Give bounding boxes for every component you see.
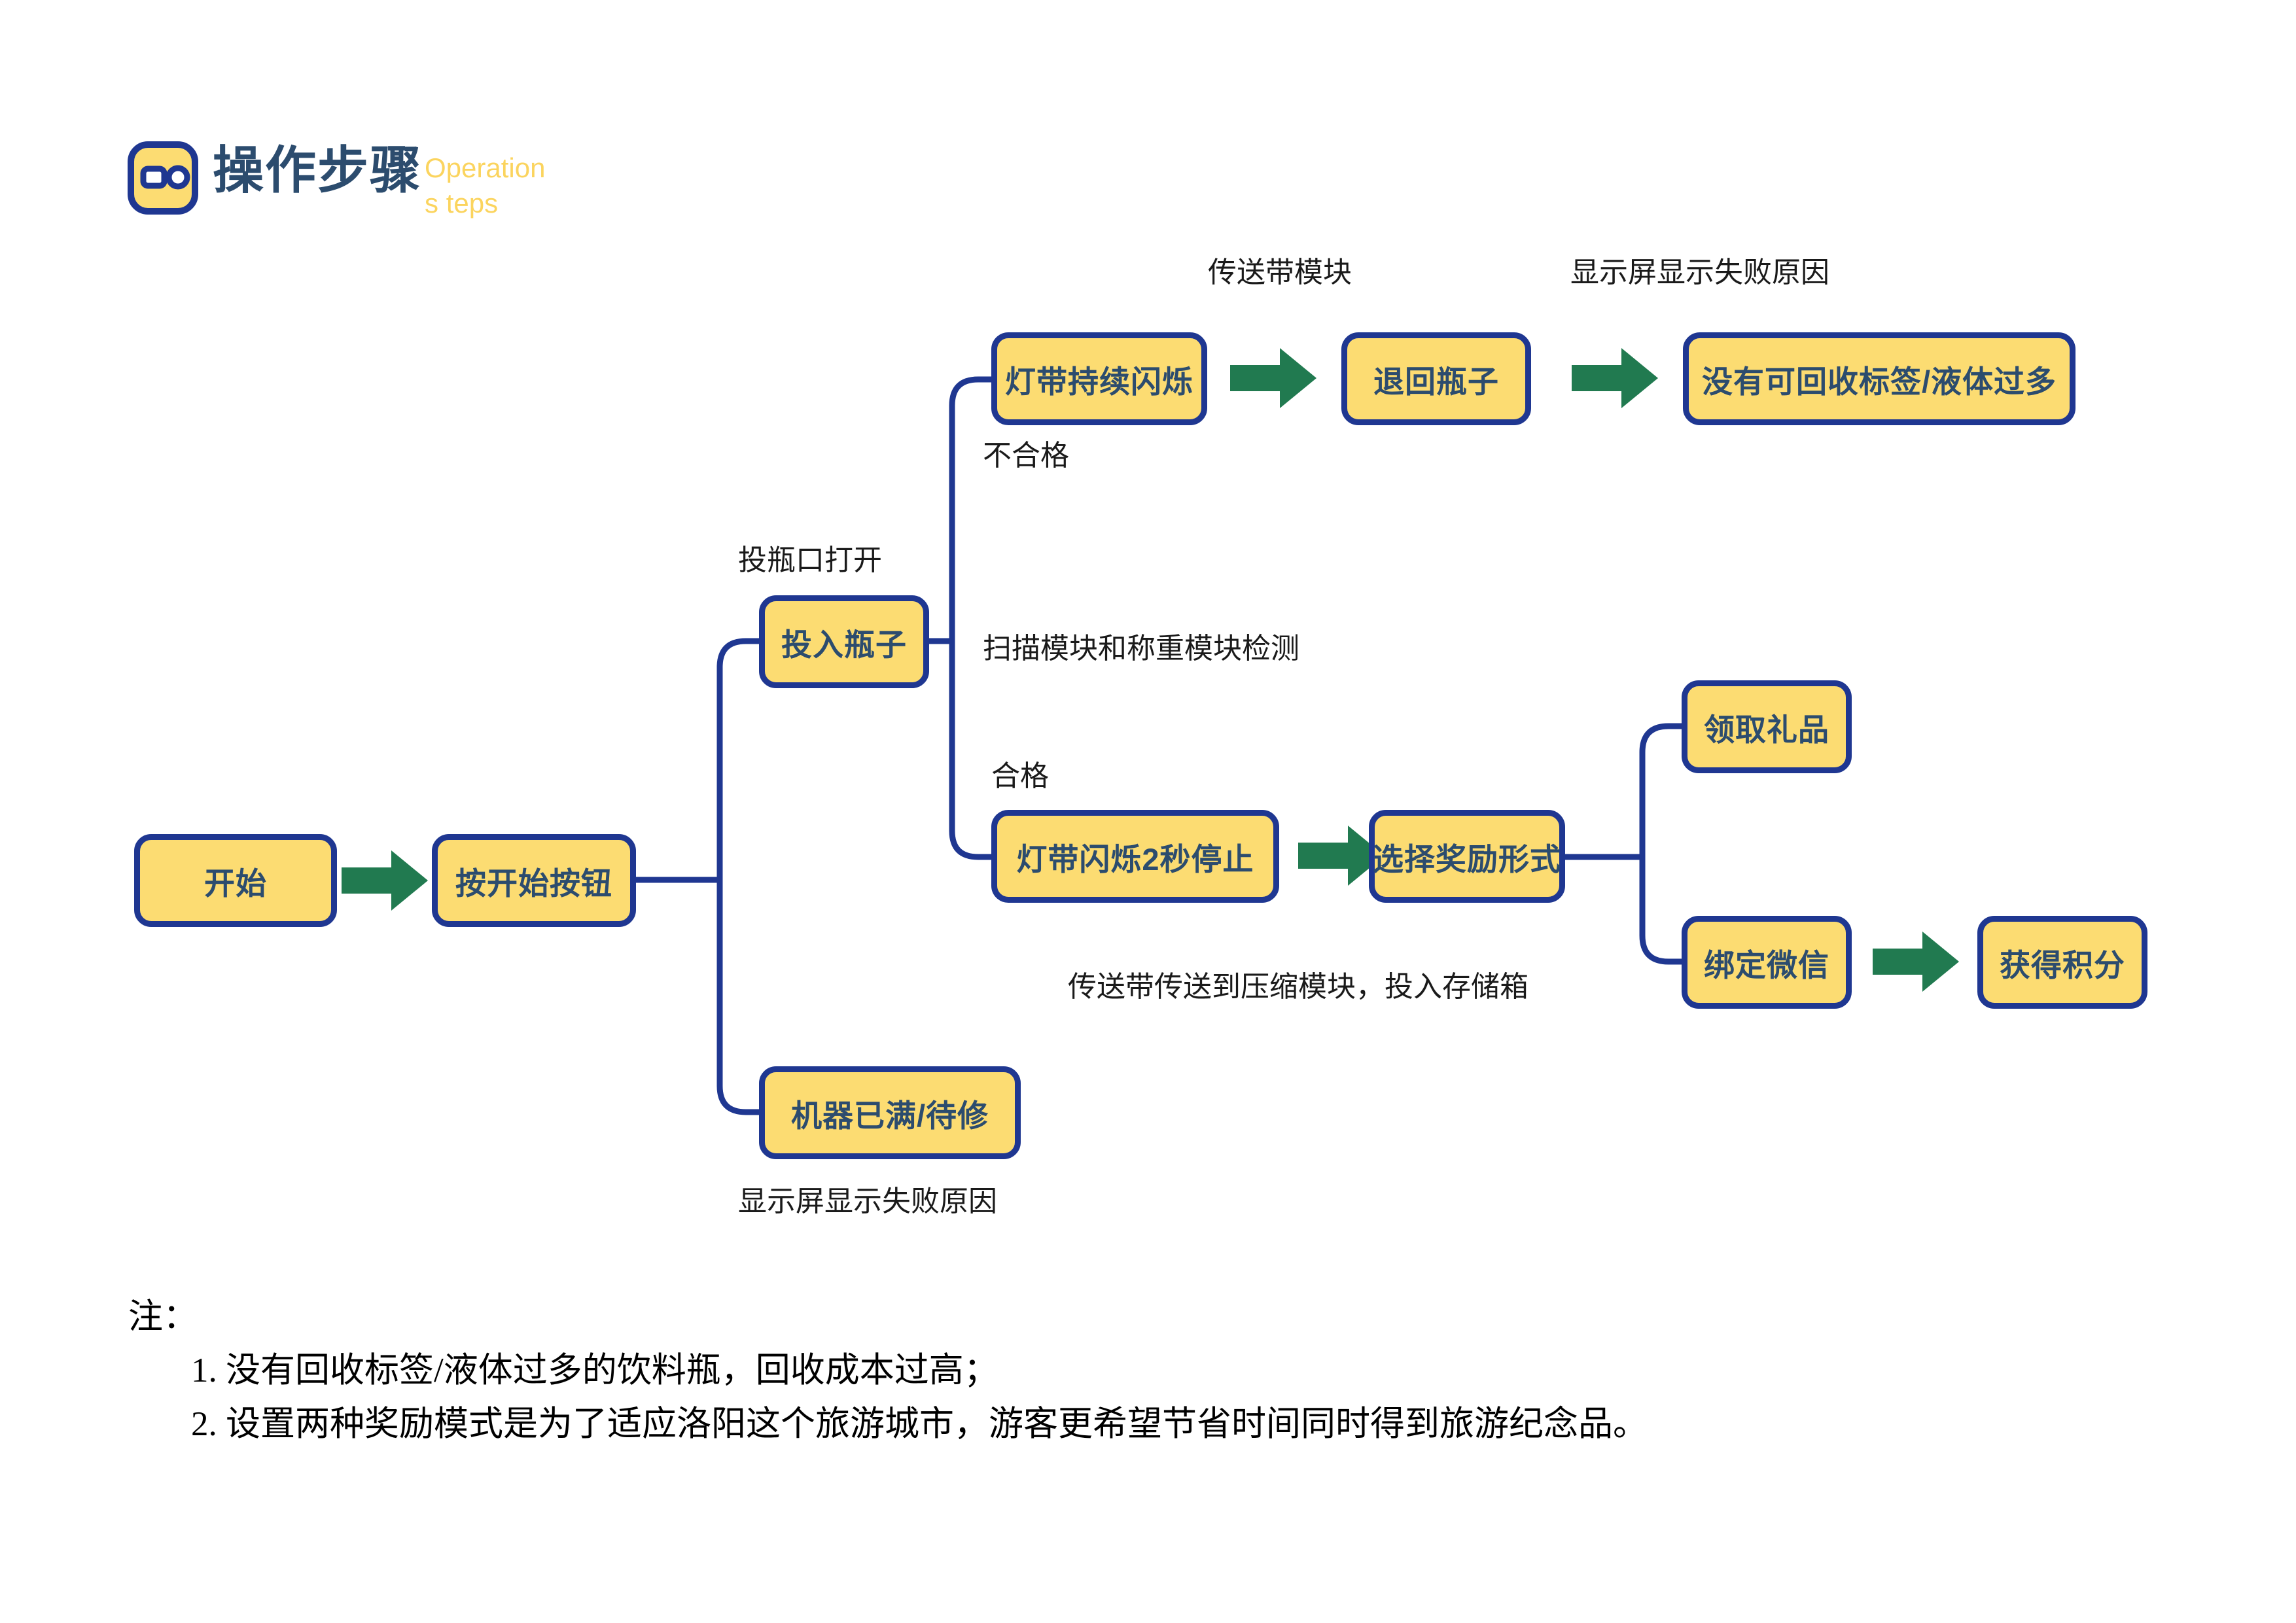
edge-spine2-to-led-blink xyxy=(952,379,991,406)
node-start[interactable]: 开始 xyxy=(134,834,337,927)
notes-block: 注： 1. 没有回收标签/液体过多的饮料瓶，回收成本过高； 2. 设置两种奖励模… xyxy=(128,1290,1648,1451)
node-choose-reward[interactable]: 选择奖励形式 xyxy=(1369,810,1565,903)
edge-spine3-to-bind-wechat xyxy=(1642,935,1682,962)
note-item-1: 1. 没有回收标签/液体过多的饮料瓶，回收成本过高； xyxy=(191,1344,1648,1397)
edge-label-screen-reason-bottom: 显示屏显示失败原因 xyxy=(738,1178,997,1219)
node-machine-full[interactable]: 机器已满/待修 xyxy=(759,1066,1021,1159)
notes-heading: 注： xyxy=(128,1290,1648,1344)
edge-label-conveyor-storage: 传送带传送到压缩模块，投入存储箱 xyxy=(1068,963,1528,1005)
edge-spine3-to-claim-gift xyxy=(1642,726,1682,752)
edge-label-unqualified: 不合格 xyxy=(983,432,1069,474)
edge-spine2-to-led-stop xyxy=(952,831,991,857)
edge-label-screen-reason-top: 显示屏显示失败原因 xyxy=(1570,249,1829,290)
edge-label-slot-open: 投瓶口打开 xyxy=(738,536,882,578)
edge-label-scan-weigh: 扫描模块和称重模块检测 xyxy=(983,625,1299,667)
arrow-return-bottle-to-reject-reason xyxy=(1570,345,1659,411)
node-return-bottle[interactable]: 退回瓶子 xyxy=(1341,332,1531,425)
arrow-bind-wechat-to-get-points xyxy=(1871,929,1960,994)
node-led-blink[interactable]: 灯带持续闪烁 xyxy=(991,332,1207,425)
node-led-stop[interactable]: 灯带闪烁2秒停止 xyxy=(991,810,1279,903)
edge-spine-to-insert-bottle xyxy=(720,641,759,667)
arrow-start-to-press-start xyxy=(340,848,429,913)
node-press-start[interactable]: 按开始按钮 xyxy=(432,834,636,927)
note-item-2: 2. 设置两种奖励模式是为了适应洛阳这个旅游城市，游客更希望节省时间同时得到旅游… xyxy=(191,1397,1648,1451)
arrow-led-blink-to-return-bottle xyxy=(1229,345,1318,411)
edge-label-conveyor-module: 传送带模块 xyxy=(1208,249,1352,290)
edge-spine-to-machine-full xyxy=(720,1086,759,1112)
node-bind-wechat[interactable]: 绑定微信 xyxy=(1682,916,1852,1009)
node-insert-bottle[interactable]: 投入瓶子 xyxy=(759,595,929,688)
node-get-points[interactable]: 获得积分 xyxy=(1977,916,2147,1009)
node-claim-gift[interactable]: 领取礼品 xyxy=(1682,680,1852,773)
edge-label-qualified: 合格 xyxy=(991,752,1049,794)
node-reject-reason[interactable]: 没有可回收标签/液体过多 xyxy=(1683,332,2075,425)
